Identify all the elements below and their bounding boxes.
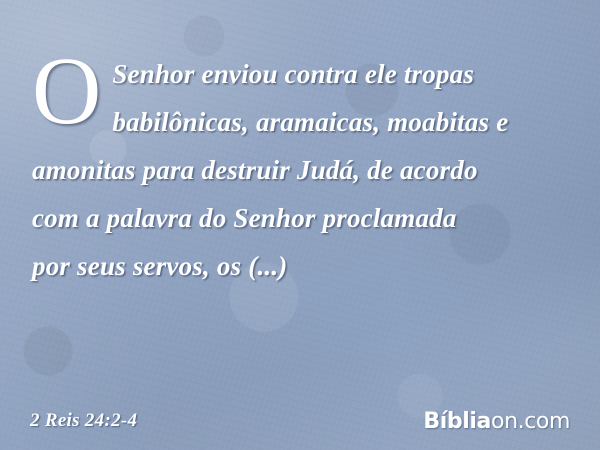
verse-line: babilônicas, aramaicas, moabitas e [32, 98, 570, 146]
verse-line: amonitas para destruir Judá, de acordo [32, 146, 570, 194]
verse-line: com a palavra do Senhor proclamada [32, 194, 570, 242]
verse-line: por seus servos, os (...) [32, 242, 570, 290]
bibliaon-logo: Bíbliaon.com [423, 409, 570, 434]
verse-image-card: O Senhor enviou contra ele tropas babilô… [0, 0, 600, 450]
verse-line: Senhor enviou contra ele tropas [32, 50, 570, 98]
verse-dropcap-letter: O [32, 52, 101, 131]
verse-text-block: O Senhor enviou contra ele tropas babilô… [32, 50, 570, 290]
brand-name-bold: Bíblia [423, 409, 491, 434]
card-footer: 2 Reis 24:2-4 Bíbliaon.com [0, 406, 600, 436]
verse-reference: 2 Reis 24:2-4 [30, 410, 137, 432]
brand-name-light: on.com [491, 409, 570, 434]
